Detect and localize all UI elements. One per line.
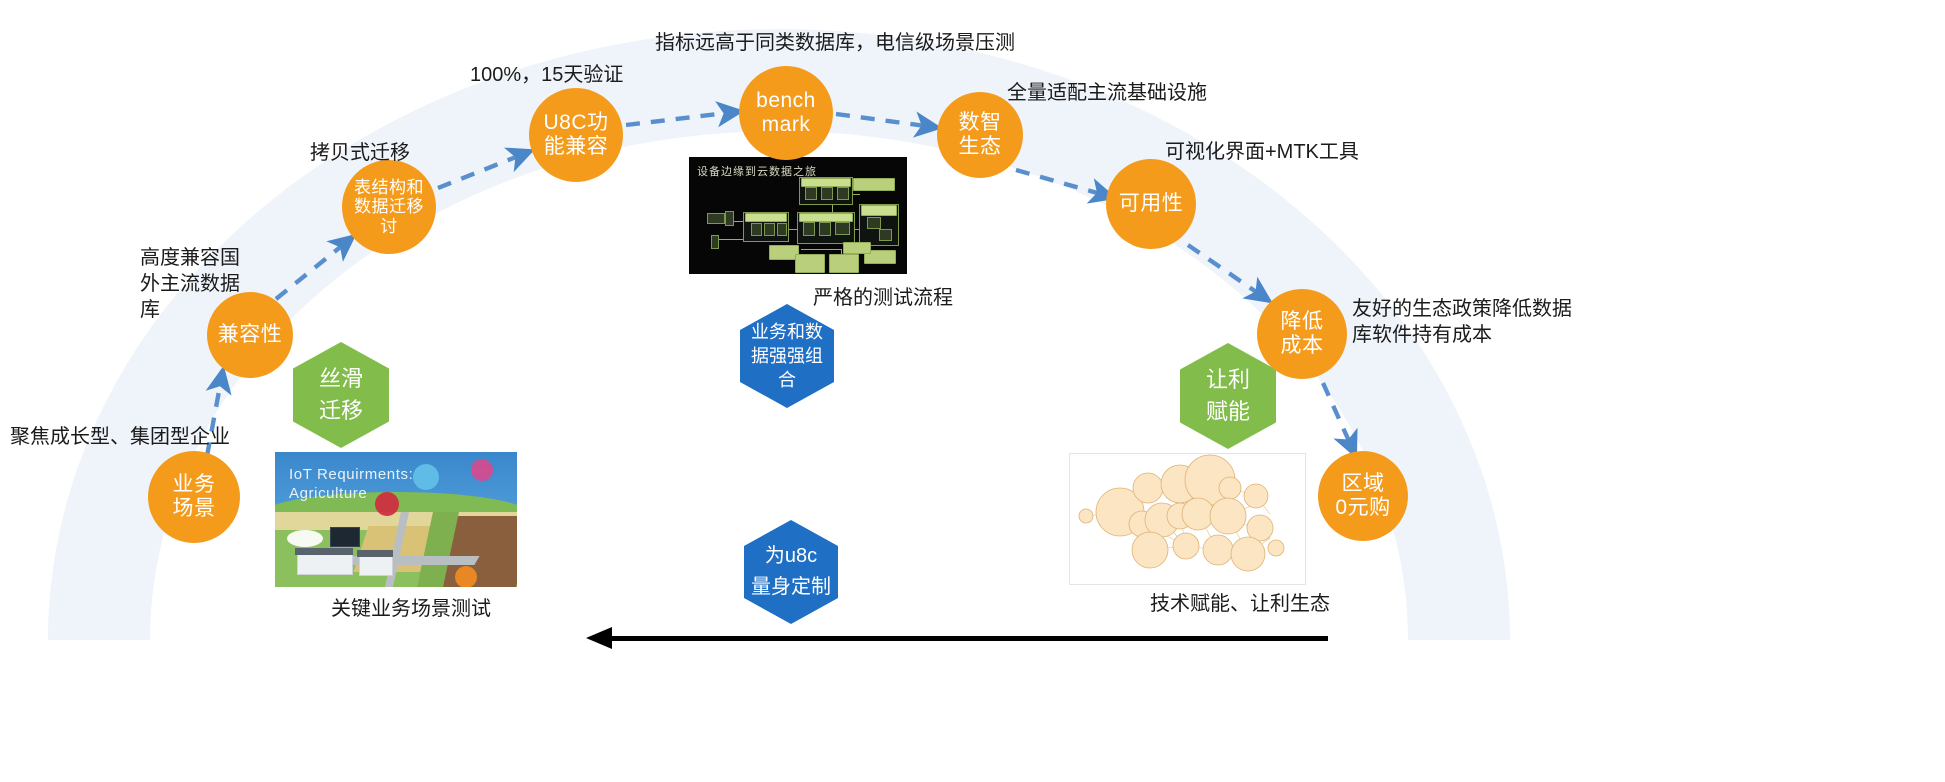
- node-benchmark[interactable]: bench mark: [739, 66, 833, 160]
- note-full-adapt: 全量适配主流基础设施: [1007, 80, 1207, 106]
- arrow-availability-to-cost: [1188, 245, 1265, 298]
- note-copy-migration: 拷贝式迁移: [310, 140, 410, 166]
- tech-ecology-picture-caption: 技术赋能、让利生态: [1150, 587, 1330, 616]
- hexagon-smooth-migration[interactable]: 丝滑 迁移: [293, 342, 389, 448]
- node-region-zero-buy[interactable]: 区域 0元购: [1318, 451, 1408, 541]
- test-flow-picture: 设备边缘到云数据之旅: [689, 157, 907, 274]
- diagram-canvas: 设备边缘到云数据之旅: [0, 0, 1945, 782]
- iot-agriculture-picture: IoT Requirments: Agriculture: [275, 452, 517, 587]
- hexagon-profit-empower[interactable]: 让利 赋能: [1180, 343, 1276, 449]
- arrow-compat-to-schema: [276, 240, 349, 299]
- note-100-15days: 100%，15天验证: [470, 62, 623, 88]
- note-friendly-policy: 友好的生态政策降低数据 库软件持有成本: [1352, 296, 1572, 348]
- note-high-compat: 高度兼容国 外主流数据 库: [140, 245, 240, 323]
- note-benchmark-metric: 指标远高于同类数据库，电信级场景压测: [655, 30, 1015, 56]
- hexagon-biz-data-combo[interactable]: 业务和数 据强强组 合: [740, 304, 834, 408]
- node-availability[interactable]: 可用性: [1106, 159, 1196, 249]
- feedback-arrow-line: [606, 636, 1328, 641]
- note-visual-mtk: 可视化界面+MTK工具: [1165, 139, 1359, 165]
- node-schema-migration[interactable]: 表结构和 数据迁移 讨: [342, 160, 436, 254]
- node-business-scenario[interactable]: 业务 场景: [148, 451, 240, 543]
- iot-agriculture-picture-caption: 关键业务场景测试: [331, 592, 491, 621]
- node-reduce-cost[interactable]: 降低 成本: [1257, 289, 1347, 379]
- arrow-schema-to-u8c: [438, 153, 526, 188]
- arrow-cost-to-region: [1323, 383, 1353, 450]
- arrow-benchmark-to-ecology: [836, 114, 933, 127]
- bubble-network-svg: [1070, 454, 1305, 584]
- note-focus-enterprise: 聚焦成长型、集团型企业: [10, 424, 230, 450]
- arrow-u8c-to-benchmark: [626, 112, 735, 125]
- arrow-ecology-to-availability: [1016, 170, 1108, 196]
- test-flow-picture-caption: 严格的测试流程: [813, 281, 953, 310]
- hexagon-custom-for-u8c[interactable]: 为u8c 量身定制: [744, 520, 838, 624]
- iot-agriculture-picture-title: IoT Requirments: Agriculture: [289, 466, 413, 504]
- tech-ecology-picture: [1069, 453, 1306, 585]
- node-u8c-function[interactable]: U8C功 能兼容: [529, 88, 623, 182]
- feedback-arrow-head: [586, 627, 612, 649]
